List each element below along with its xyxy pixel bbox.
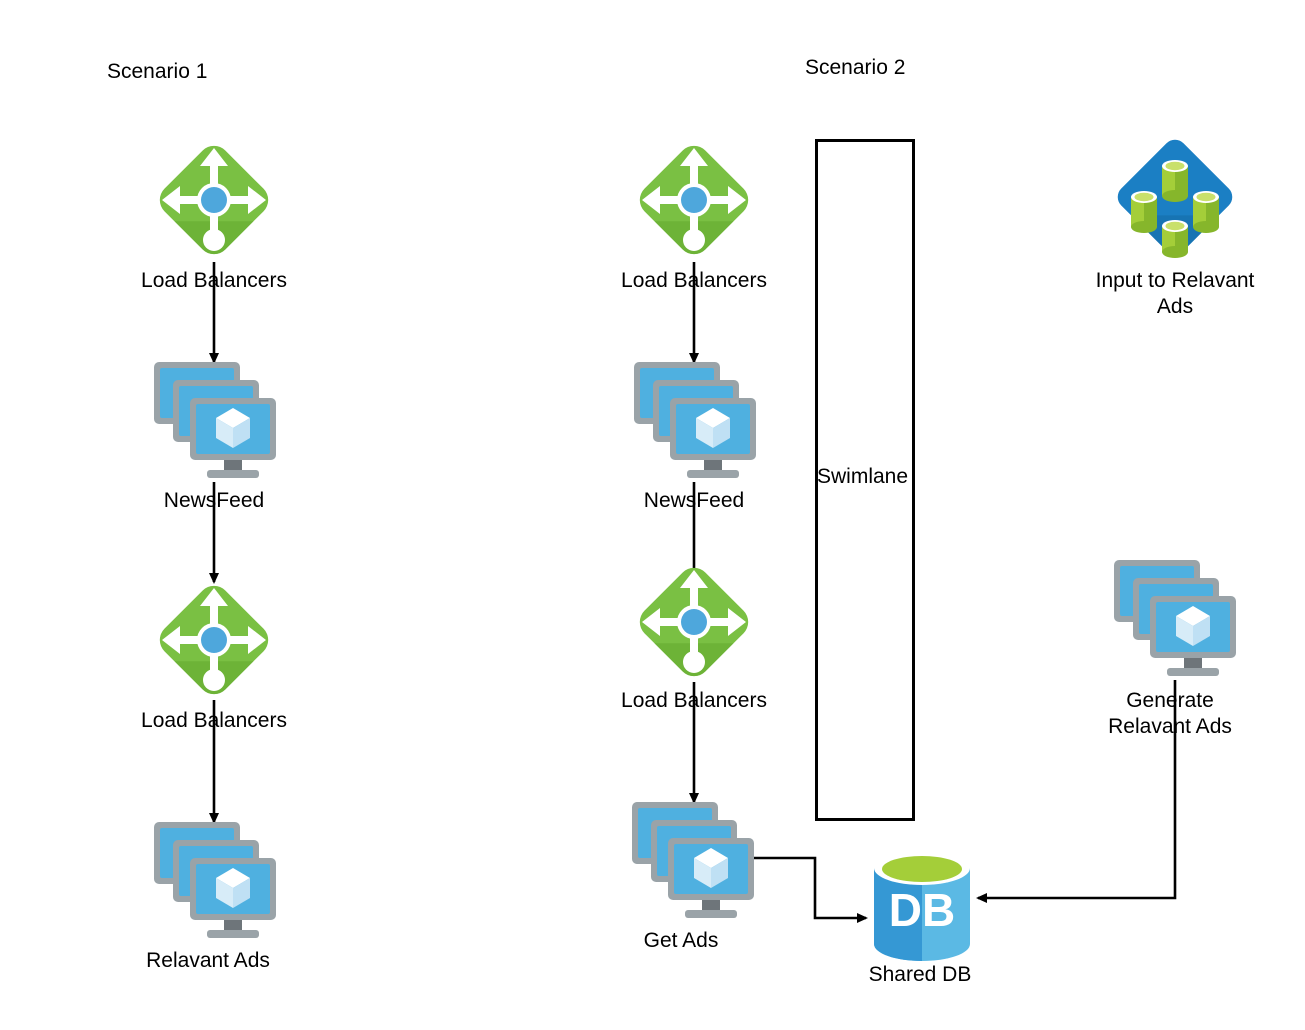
label-s2-lb2: Load Balancers [544, 688, 844, 714]
scenario-2-title: Scenario 2 [805, 56, 905, 80]
label-s2-input: Input to Relavant Ads [1025, 268, 1305, 320]
virtual-machines-icon [152, 818, 278, 942]
diagram-canvas: Scenario 1 Scenario 2 Swimlane [0, 0, 1305, 1030]
node-shared-db[interactable]: DB [866, 840, 978, 964]
node-s2-newsfeed[interactable] [632, 358, 758, 482]
label-s1-newsfeed: NewsFeed [64, 488, 364, 514]
label-s1-lb2: Load Balancers [64, 708, 364, 734]
label-s1-relevant-ads: Relavant Ads [58, 948, 358, 974]
storage-accounts-icon [1112, 134, 1238, 260]
node-s2-input[interactable] [1112, 134, 1238, 260]
label-shared-db: Shared DB [770, 962, 1070, 988]
virtual-machines-icon [152, 358, 278, 482]
lb-center-dot [201, 627, 227, 653]
db-glyph: DB [889, 884, 955, 936]
node-s1-lb1[interactable] [152, 138, 276, 262]
node-s2-generate[interactable] [1112, 556, 1238, 680]
database-icon: DB [866, 840, 978, 964]
label-s2-generate: Generate Relavant Ads [1020, 688, 1305, 740]
lb-center-dot [681, 187, 707, 213]
label-s1-lb1: Load Balancers [64, 268, 364, 294]
label-s2-newsfeed: NewsFeed [544, 488, 844, 514]
node-s2-lb2[interactable] [632, 560, 756, 684]
virtual-machines-icon [632, 358, 758, 482]
virtual-machines-icon [1112, 556, 1238, 680]
node-s1-relevant-ads[interactable] [152, 818, 278, 942]
lb-center-dot [681, 609, 707, 635]
node-s2-getads[interactable] [630, 798, 756, 922]
scenario-1-title: Scenario 1 [107, 60, 207, 84]
load-balancer-icon [152, 578, 276, 702]
load-balancer-icon [632, 138, 756, 262]
lb-center-dot [201, 187, 227, 213]
load-balancer-icon [152, 138, 276, 262]
load-balancer-icon [632, 560, 756, 684]
swimlane-label: Swimlane [817, 465, 908, 489]
virtual-machines-icon [630, 798, 756, 922]
label-s2-lb1: Load Balancers [544, 268, 844, 294]
node-s1-newsfeed[interactable] [152, 358, 278, 482]
node-s1-lb2[interactable] [152, 578, 276, 702]
edge-getads-to-db [754, 858, 866, 918]
label-s2-getads: Get Ads [531, 928, 831, 954]
node-s2-lb1[interactable] [632, 138, 756, 262]
